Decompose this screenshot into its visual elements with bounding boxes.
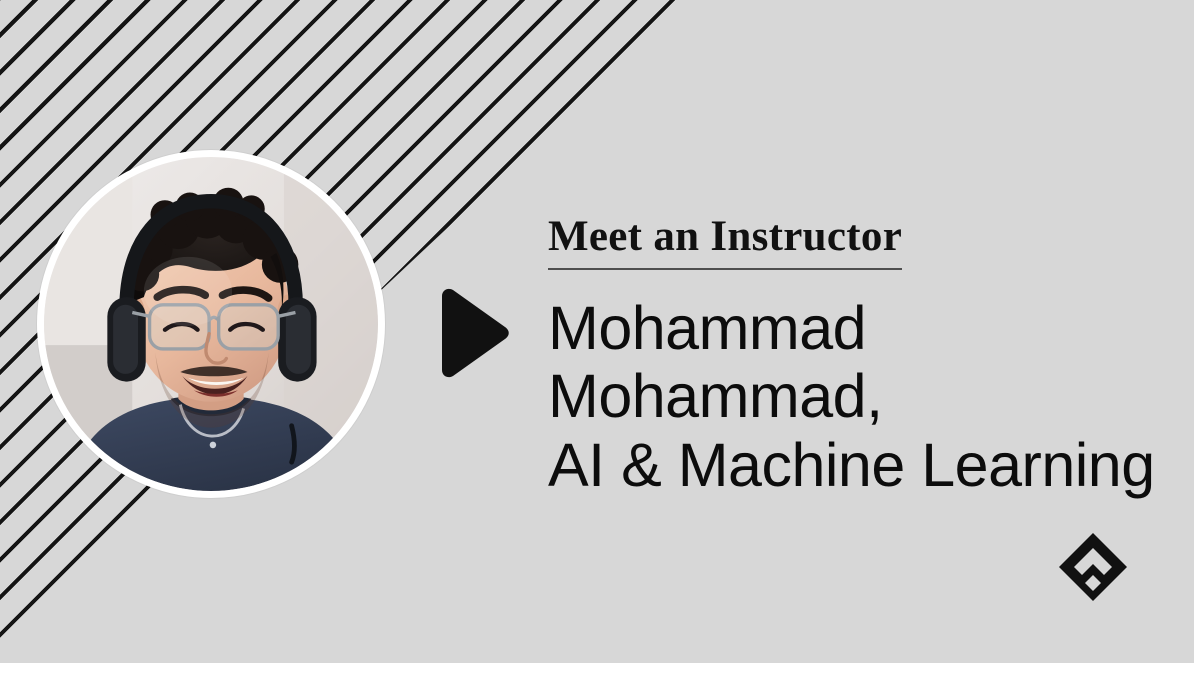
instructor-portrait-avatar (37, 150, 385, 498)
slide-background: Meet an Instructor Mohammad Mohammad, AI… (0, 0, 1194, 663)
instructor-headline: Mohammad Mohammad, AI & Machine Learning (548, 294, 1168, 499)
play-button-icon[interactable] (432, 286, 512, 380)
eyebrow-heading: Meet an Instructor (548, 214, 902, 270)
slide-canvas: Meet an Instructor Mohammad Mohammad, AI… (0, 0, 1200, 674)
instructor-text-block: Meet an Instructor Mohammad Mohammad, AI… (548, 214, 1168, 499)
brand-logo-icon (1057, 531, 1129, 603)
